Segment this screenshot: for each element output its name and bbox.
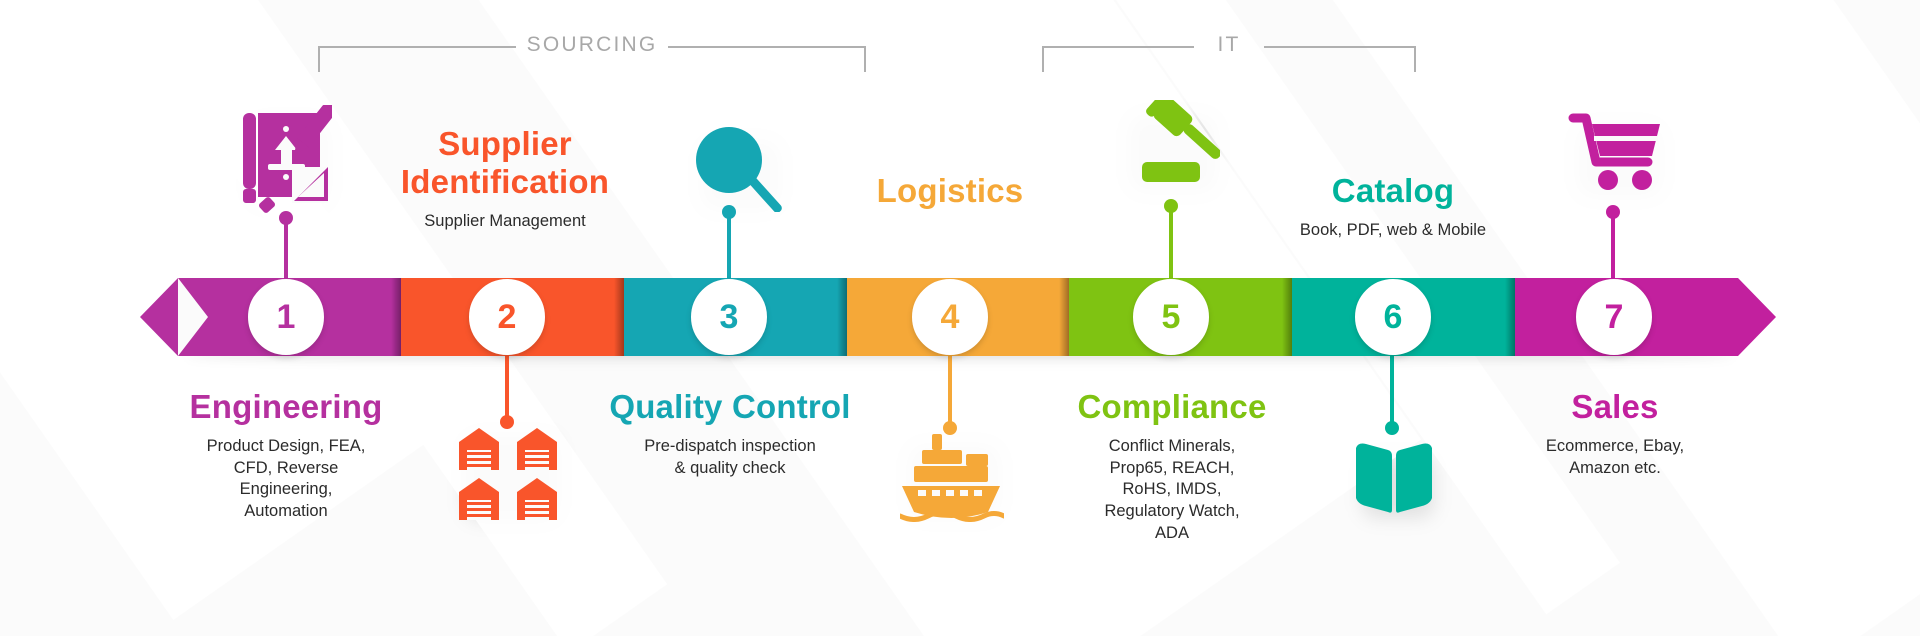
step-label-sales: Sales Ecommerce, Ebay, Amazon etc. [1465,388,1765,479]
magnifying-glass-icon [692,126,782,212]
step-title: Sales [1465,388,1765,427]
bracket-line-right [1264,46,1416,48]
group-bracket-it: IT [1042,22,1416,70]
step-title: Engineering [136,388,436,427]
step-description: Book, PDF, web & Mobile [1243,220,1543,242]
shopping-cart-icon [1568,110,1664,200]
step-title: Quality Control [580,388,880,427]
step-number-label: 2 [498,300,517,334]
step-number-label: 5 [1162,300,1181,334]
blueprint-pencil-icon [240,105,332,213]
open-book-icon [1352,440,1436,520]
step-description: Supplier Management [355,211,655,233]
connector-engineering [284,218,288,282]
bracket-tick-left [318,46,320,72]
step-label-compliance: Compliance Conflict Minerals, Prop65, RE… [1022,388,1322,545]
bracket-tick-right [864,46,866,72]
step-description: Conflict Minerals, Prop65, REACH, RoHS, … [1022,436,1322,546]
step-description: Product Design, FEA, CFD, Reverse Engine… [136,436,436,524]
step-number-label: 3 [720,300,739,334]
step-label-supplier: Supplier Identification Supplier Managem… [355,125,655,232]
group-label-it: IT [1203,33,1254,57]
step-title: Supplier Identification [355,125,655,202]
step-title: Catalog [1243,172,1543,211]
step-label-engineering: Engineering Product Design, FEA, CFD, Re… [136,388,436,523]
connector-compliance [1169,206,1173,282]
step-description: Ecommerce, Ebay, Amazon etc. [1465,436,1765,480]
gavel-icon [1120,100,1220,196]
connector-supplier [505,352,509,422]
cargo-ship-icon [900,430,1004,522]
step-description: Pre-dispatch inspection & quality check [580,436,880,480]
step-number-4[interactable]: 4 [913,280,987,354]
step-number-2[interactable]: 2 [470,280,544,354]
step-number-1[interactable]: 1 [249,280,323,354]
bracket-line-right [668,46,866,48]
bracket-line-left [318,46,516,48]
step-label-quality: Quality Control Pre-dispatch inspection … [580,388,880,479]
step-number-label: 1 [277,300,296,334]
step-number-label: 6 [1384,300,1403,334]
warehouse-buildings-icon [455,420,563,528]
bracket-tick-left [1042,46,1044,72]
connector-catalog [1390,352,1394,428]
step-number-7[interactable]: 7 [1577,280,1651,354]
step-number-3[interactable]: 3 [692,280,766,354]
group-label-sourcing: SOURCING [513,33,672,57]
group-bracket-sourcing: SOURCING [318,22,866,70]
step-number-label: 4 [941,300,960,334]
step-number-5[interactable]: 5 [1134,280,1208,354]
step-number-label: 7 [1605,300,1624,334]
connector-quality [727,212,731,282]
step-label-logistics: Logistics [805,172,1095,211]
connector-logistics [948,352,952,428]
bracket-tick-right [1414,46,1416,72]
step-label-catalog: Catalog Book, PDF, web & Mobile [1243,172,1543,242]
step-title: Compliance [1022,388,1322,427]
bracket-line-left [1042,46,1194,48]
process-flow-diagram: SOURCING IT [0,0,1920,636]
step-number-6[interactable]: 6 [1356,280,1430,354]
connector-sales [1611,212,1615,282]
step-title: Logistics [805,172,1095,211]
